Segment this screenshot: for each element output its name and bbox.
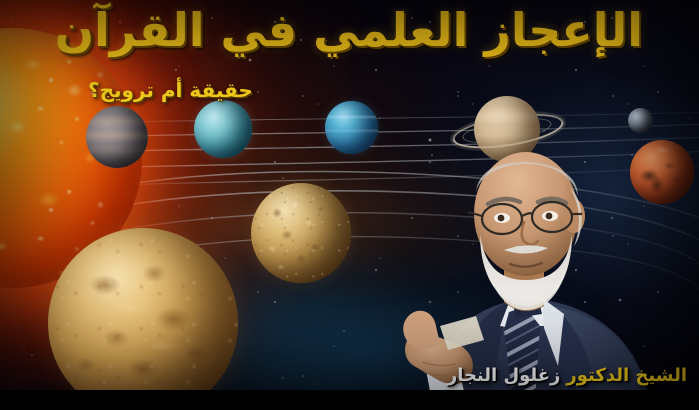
- page-title: الإعجاز العلمي في القرآن: [55, 6, 643, 56]
- mercury-speckle: [251, 183, 351, 283]
- neptune-cloud-bands: [325, 101, 378, 154]
- planet-jupiter: [86, 106, 148, 168]
- planet-venus: [48, 228, 238, 410]
- pupil-left: [498, 215, 505, 222]
- planet-neptune: [325, 101, 378, 154]
- poster-image: الإعجاز العلمي في القرآن حقيقة أم ترويج؟…: [0, 0, 699, 410]
- venus-cloud-swirl: [48, 228, 238, 410]
- planet-uranus: [194, 100, 252, 158]
- pupil-right: [546, 213, 553, 220]
- credit-name: زغلول النجار: [447, 365, 561, 386]
- subtitle: حقيقة أم ترويج؟: [88, 78, 253, 102]
- bottom-black-bar: [0, 390, 699, 410]
- speaker-credit: الشيخ الدكتورزغلول النجار: [447, 365, 687, 386]
- planet-mercury: [251, 183, 351, 283]
- credit-honorific: الشيخ الدكتور: [566, 365, 687, 386]
